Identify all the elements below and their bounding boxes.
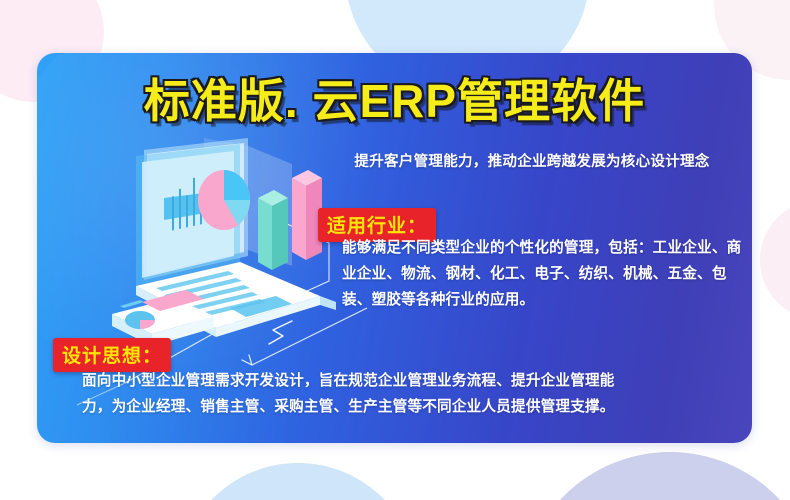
poster-card: 标准版. 云ERP管理软件 提升客户管理能力，推动企业跨越发展为核心设计理念 适… xyxy=(37,53,752,443)
page-title: 标准版. 云ERP管理软件 xyxy=(37,65,752,131)
paragraph-industry: 能够满足不同类型企业的个性化的管理，包括：工业企业、商业企业、物流、钢材、化工、… xyxy=(342,235,742,313)
document-pie-icon xyxy=(125,311,155,329)
badge-design: 设计思想： xyxy=(53,338,171,372)
decor-circle-pink-right xyxy=(760,200,790,320)
laptop-analytics-illustration xyxy=(52,138,352,368)
screen-pie-chart-icon xyxy=(198,170,250,230)
decor-circle-purple-bottom xyxy=(520,452,790,500)
decor-circle-blue-bottom xyxy=(178,463,418,500)
paragraph-design: 面向中小型企业管理需求开发设计，旨在规范企业管理业务流程、提升企业管理能力，为企… xyxy=(82,368,627,420)
page-subtitle: 提升客户管理能力，推动企业跨越发展为核心设计理念 xyxy=(317,150,747,171)
